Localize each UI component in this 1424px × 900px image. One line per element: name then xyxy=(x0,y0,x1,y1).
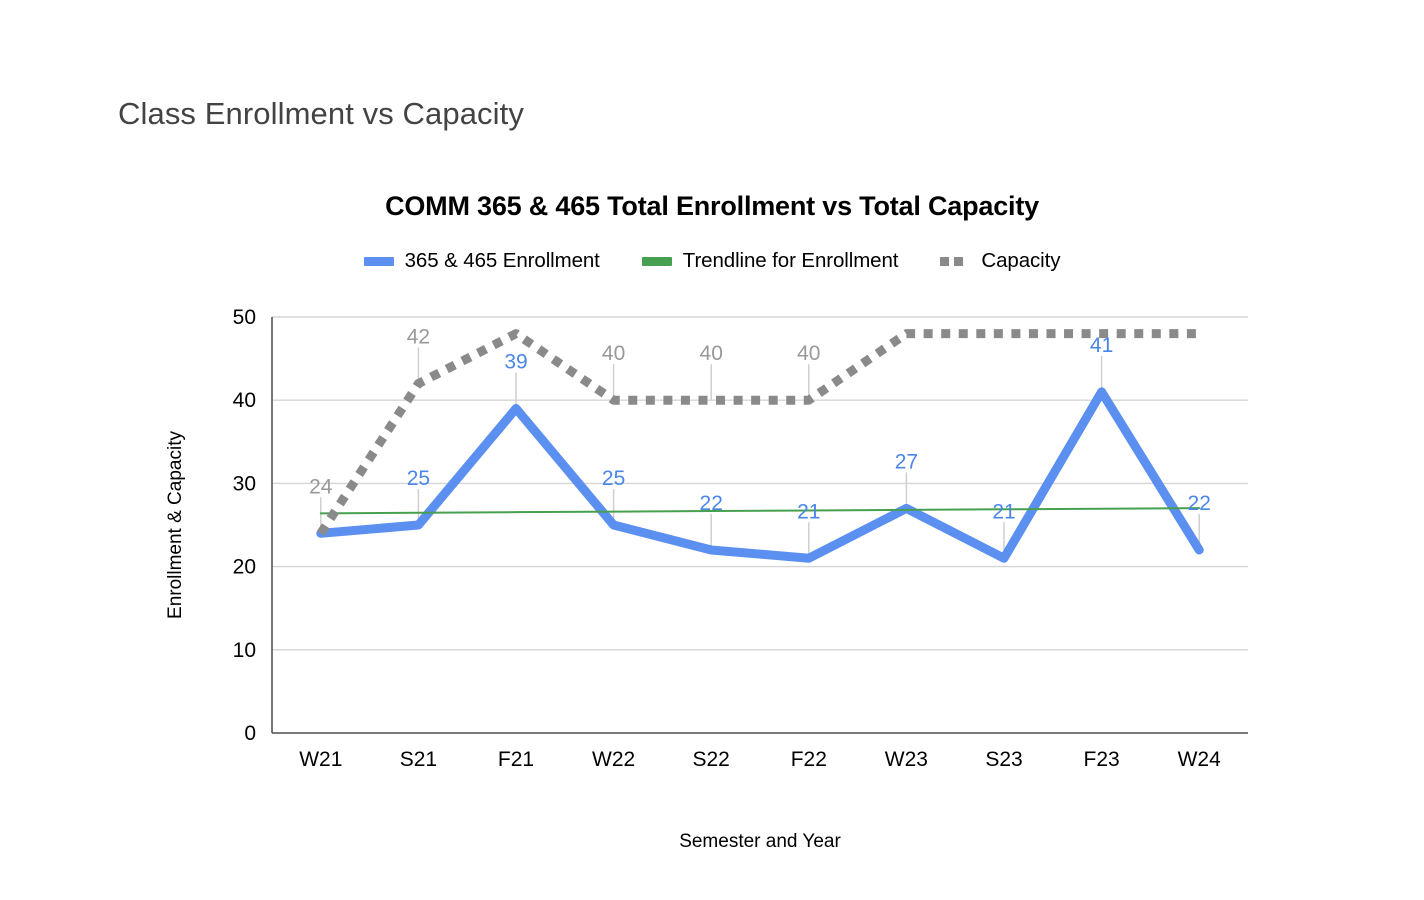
data-label-enrollment-F21: 39 xyxy=(504,351,527,374)
series-line-trendline-for-enrollment xyxy=(321,508,1199,513)
chart-canvas: 01020304050 W21S21F21W22S22F22W23S23F23W… xyxy=(0,175,1424,865)
data-label-enrollment-F22: 21 xyxy=(797,500,820,523)
data-label-enrollment-S23: 21 xyxy=(992,500,1015,523)
data-label-capacity-W21: 24 xyxy=(309,475,333,498)
data-label-enrollment-W24: 22 xyxy=(1188,492,1211,515)
chart-figure: COMM 365 & 465 Total Enrollment vs Total… xyxy=(0,175,1424,865)
y-axis-title: Enrollment & Capacity xyxy=(165,431,186,619)
y-tick-10: 10 xyxy=(233,639,256,662)
x-tick-S21: S21 xyxy=(400,748,437,771)
x-tick-F23: F23 xyxy=(1084,748,1120,771)
x-tick-S23: S23 xyxy=(985,748,1022,771)
series-line-capacity xyxy=(321,334,1199,534)
y-tick-20: 20 xyxy=(233,556,256,579)
x-tick-W21: W21 xyxy=(299,748,342,771)
x-tick-W22: W22 xyxy=(592,748,635,771)
x-tick-S22: S22 xyxy=(693,748,730,771)
data-label-capacity-S21: 42 xyxy=(407,326,430,349)
data-label-enrollment-W22: 25 xyxy=(602,467,625,490)
data-label-enrollment-S21: 25 xyxy=(407,467,430,490)
y-tick-0: 0 xyxy=(244,722,256,745)
x-tick-F21: F21 xyxy=(498,748,534,771)
data-label-capacity-W22: 40 xyxy=(602,342,625,365)
data-label-capacity-F22: 40 xyxy=(797,342,820,365)
data-label-enrollment-F23: 41 xyxy=(1090,334,1113,357)
x-tick-F22: F22 xyxy=(791,748,827,771)
data-series-lines xyxy=(321,334,1199,559)
page-title: Class Enrollment vs Capacity xyxy=(118,96,524,132)
series-line-365-465-enrollment xyxy=(321,392,1199,558)
y-axis-tick-labels: 01020304050 xyxy=(233,306,256,745)
y-tick-30: 30 xyxy=(233,472,256,495)
x-tick-W23: W23 xyxy=(885,748,928,771)
y-tick-40: 40 xyxy=(233,389,256,412)
y-tick-50: 50 xyxy=(233,306,256,329)
x-tick-W24: W24 xyxy=(1178,748,1222,771)
data-label-capacity-S22: 40 xyxy=(700,342,723,365)
data-label-enrollment-S22: 22 xyxy=(700,492,723,515)
data-label-enrollment-W23: 27 xyxy=(895,450,918,473)
plot-area: 01020304050 W21S21F21W22S22F22W23S23F23W… xyxy=(0,175,1424,865)
x-axis-title: Semester and Year xyxy=(679,831,841,852)
x-axis-tick-labels: W21S21F21W22S22F22W23S23F23W24 xyxy=(299,748,1221,771)
